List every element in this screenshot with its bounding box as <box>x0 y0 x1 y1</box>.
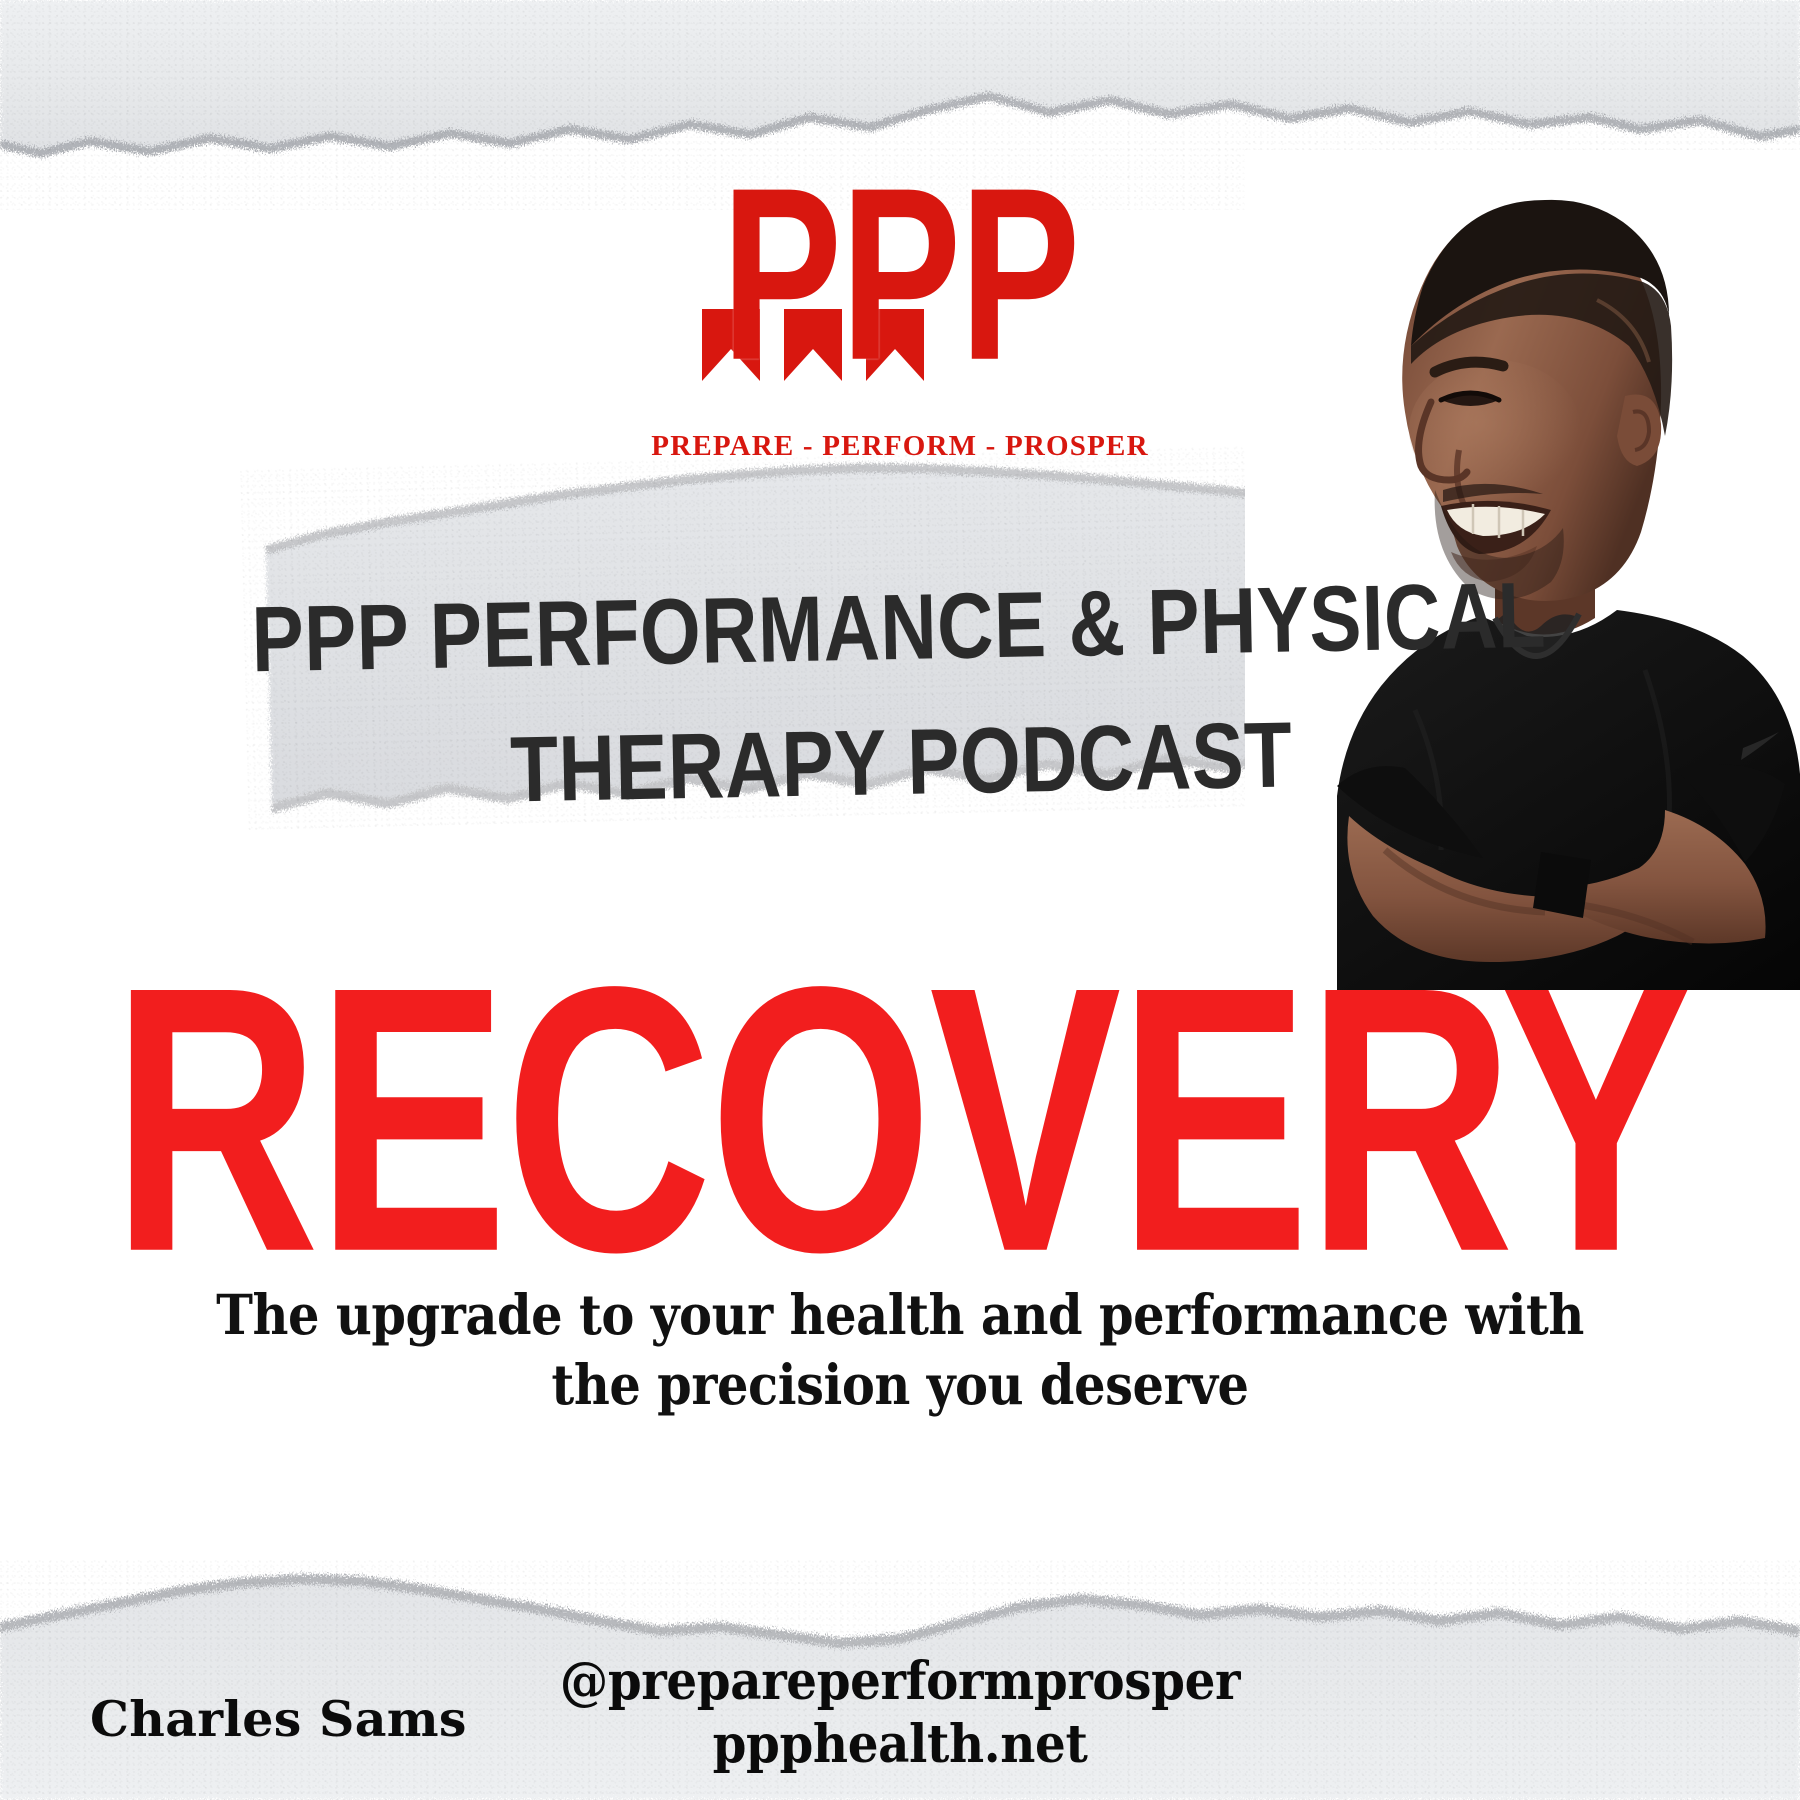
logo-wordmark: PPP <box>721 162 1078 388</box>
website-url[interactable]: ppphealth.net <box>63 1713 1737 1776</box>
episode-headline-text: RECOVERY <box>112 930 1689 1308</box>
footer-links: @prepareperformprosper ppphealth.net <box>0 1650 1800 1777</box>
podcast-cover-art: PPP PREPARE - PERFORM - PROSPER <box>0 0 1800 1800</box>
episode-subtitle-line-2: the precision you deserve <box>90 1350 1710 1420</box>
social-handle[interactable]: @prepareperformprosper <box>63 1650 1737 1713</box>
episode-headline: RECOVERY <box>0 930 1800 1250</box>
episode-subtitle: The upgrade to your health and performan… <box>0 1280 1800 1421</box>
logo-tagline: PREPARE - PERFORM - PROSPER <box>0 430 1800 463</box>
brand-logo: PPP <box>0 168 1800 381</box>
podcast-title: PPP PERFORMANCE & PHYSICAL THERAPY PODCA… <box>0 543 1800 847</box>
episode-subtitle-line-1: The upgrade to your health and performan… <box>90 1280 1710 1350</box>
